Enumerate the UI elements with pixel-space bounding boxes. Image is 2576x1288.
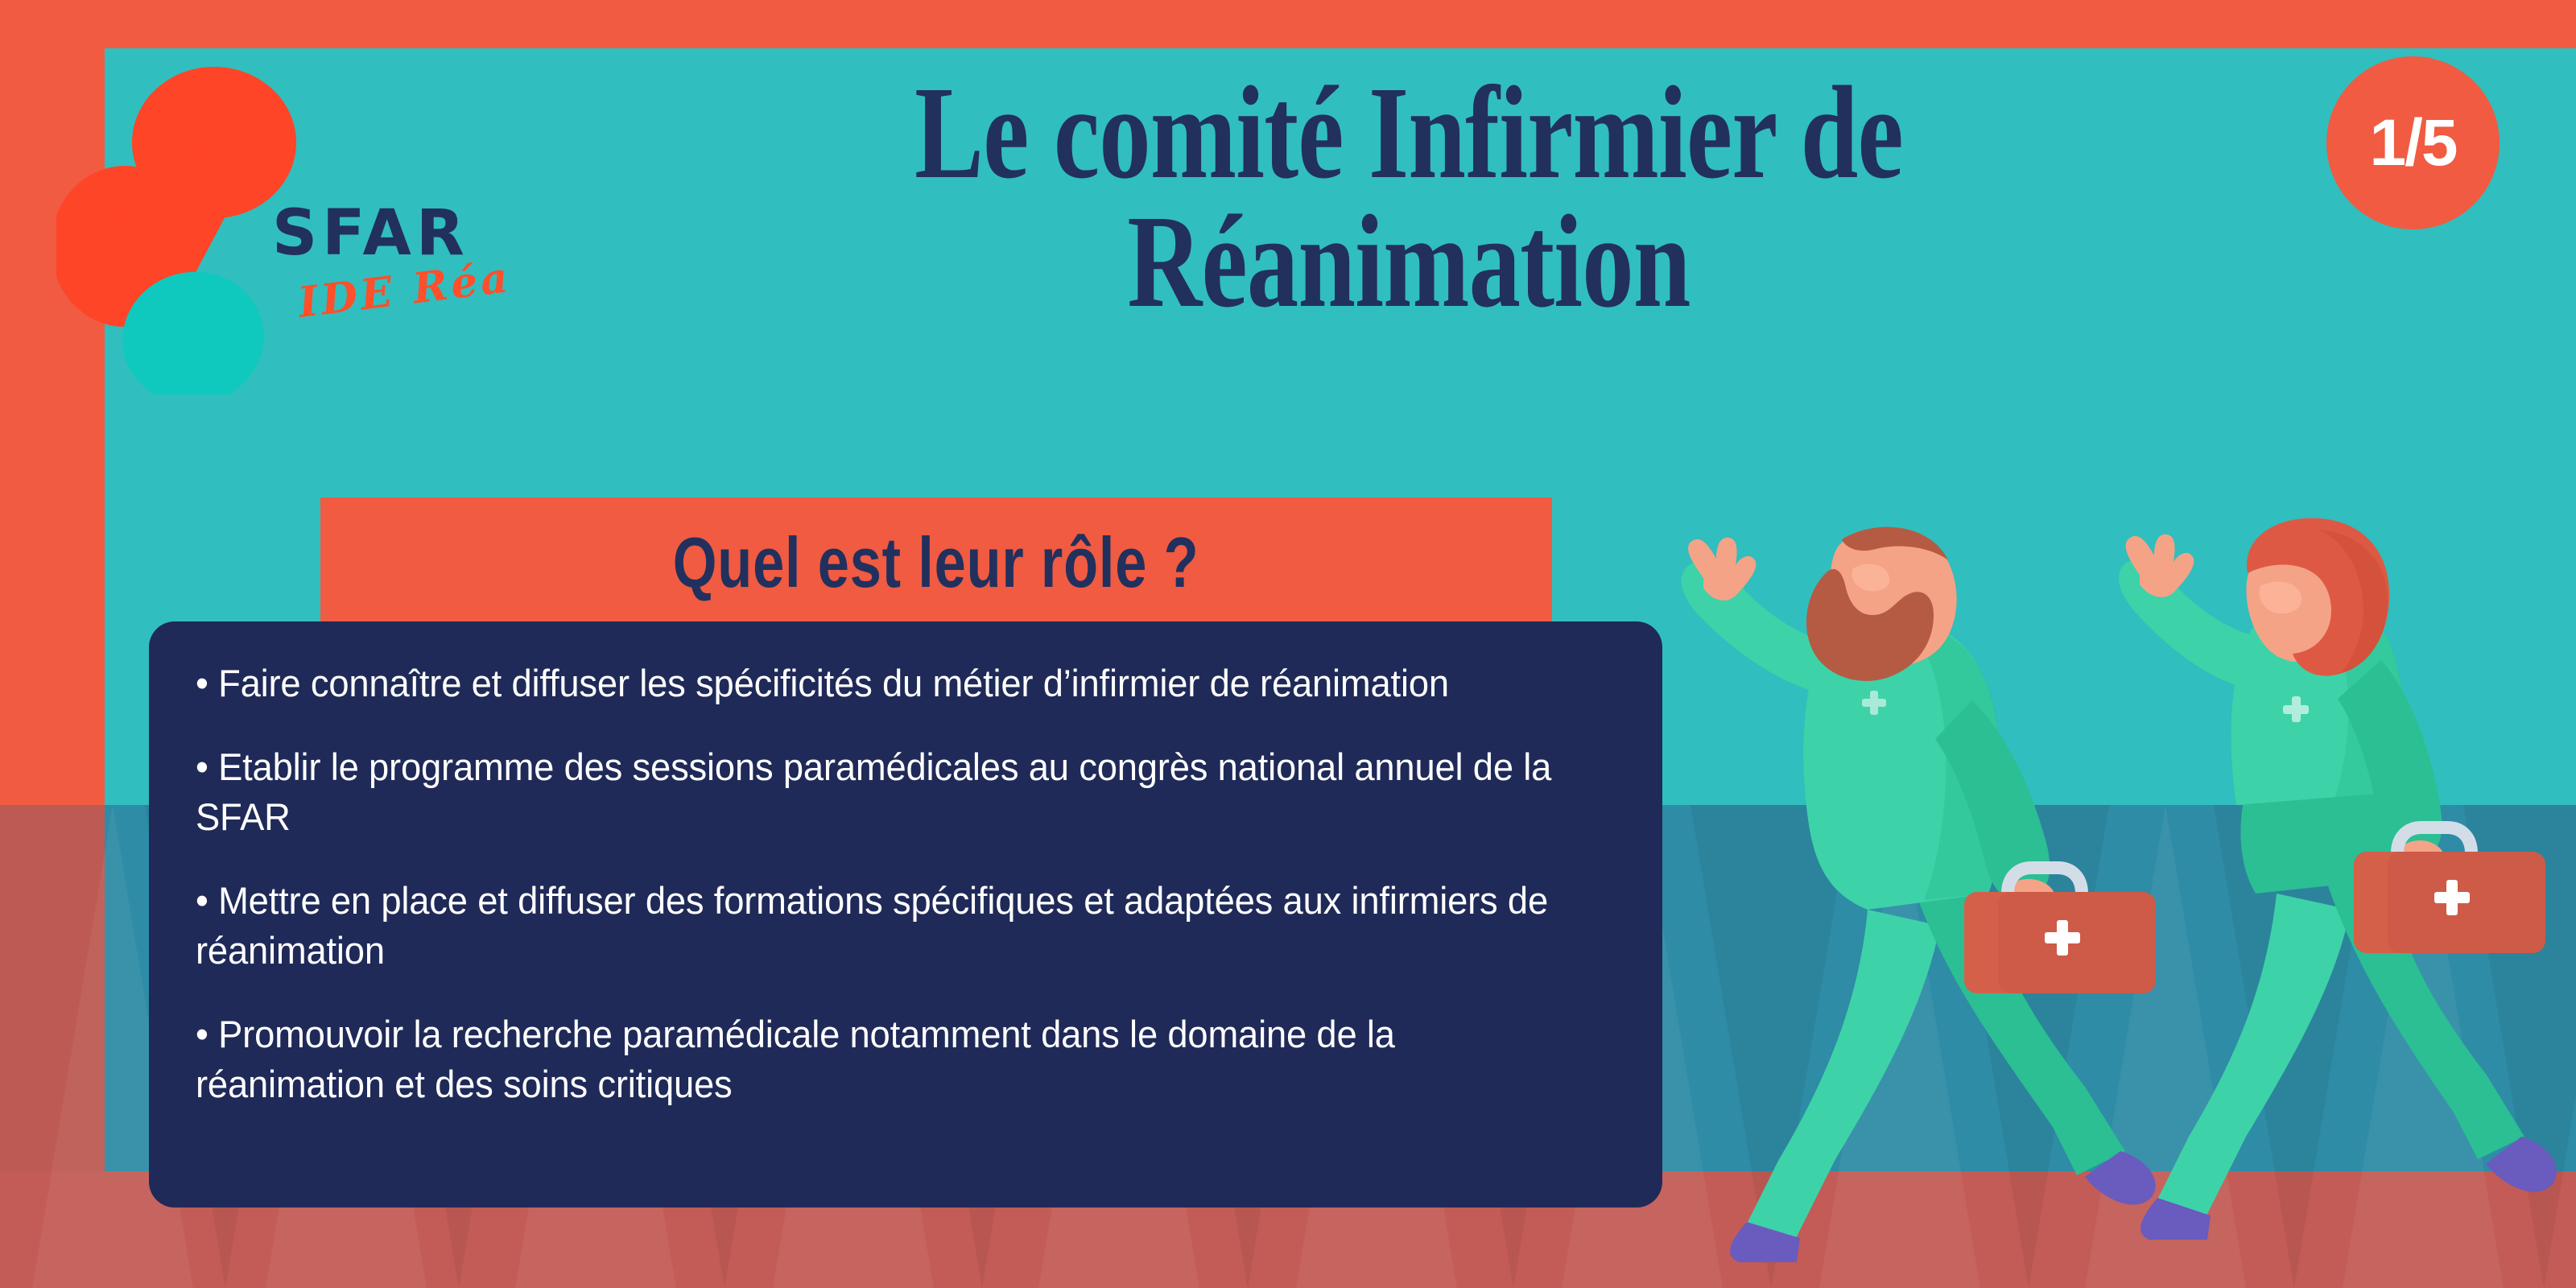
- sfar-logo[interactable]: SFAR IDE Réa: [56, 48, 572, 394]
- question-banner: Quel est leur rôle ?: [320, 497, 1552, 628]
- female-nurse: [2119, 518, 2557, 1240]
- kit-cross-v: [2057, 920, 2068, 956]
- question-text: Quel est leur rôle ?: [673, 522, 1199, 604]
- frame-top-orange: [0, 0, 2576, 48]
- nurses-illustration: [1626, 515, 2576, 1288]
- page-counter-badge: 1/5: [2326, 56, 2500, 229]
- page-title: Le comité Infirmier de Réanimation: [762, 68, 2056, 326]
- logo-wordmark: SFAR: [272, 197, 469, 270]
- list-item: • Etablir le programme des sessions para…: [196, 742, 1566, 842]
- list-item: • Faire connaître et diffuser les spécif…: [196, 658, 1566, 708]
- first-aid-kit-icon: [1964, 868, 2156, 993]
- kit-cross-v: [2446, 880, 2458, 915]
- list-item: • Mettre en place et diffuser des format…: [196, 876, 1566, 976]
- female-raised-arm: [2119, 559, 2256, 689]
- male-nurse: [1682, 527, 2156, 1262]
- page-title-line-2: Réanimation: [762, 197, 2056, 326]
- slide-canvas: SFAR IDE Réa Le comité Infirmier de Réan…: [0, 0, 2576, 1288]
- roles-content-card: • Faire connaître et diffuser les spécif…: [149, 621, 1662, 1207]
- list-item: • Promouvoir la recherche paramédicale n…: [196, 1009, 1566, 1109]
- male-back-leg: [1747, 910, 1940, 1240]
- female-back-leg: [2157, 894, 2351, 1217]
- page-title-line-1: Le comité Infirmier de: [762, 68, 2056, 197]
